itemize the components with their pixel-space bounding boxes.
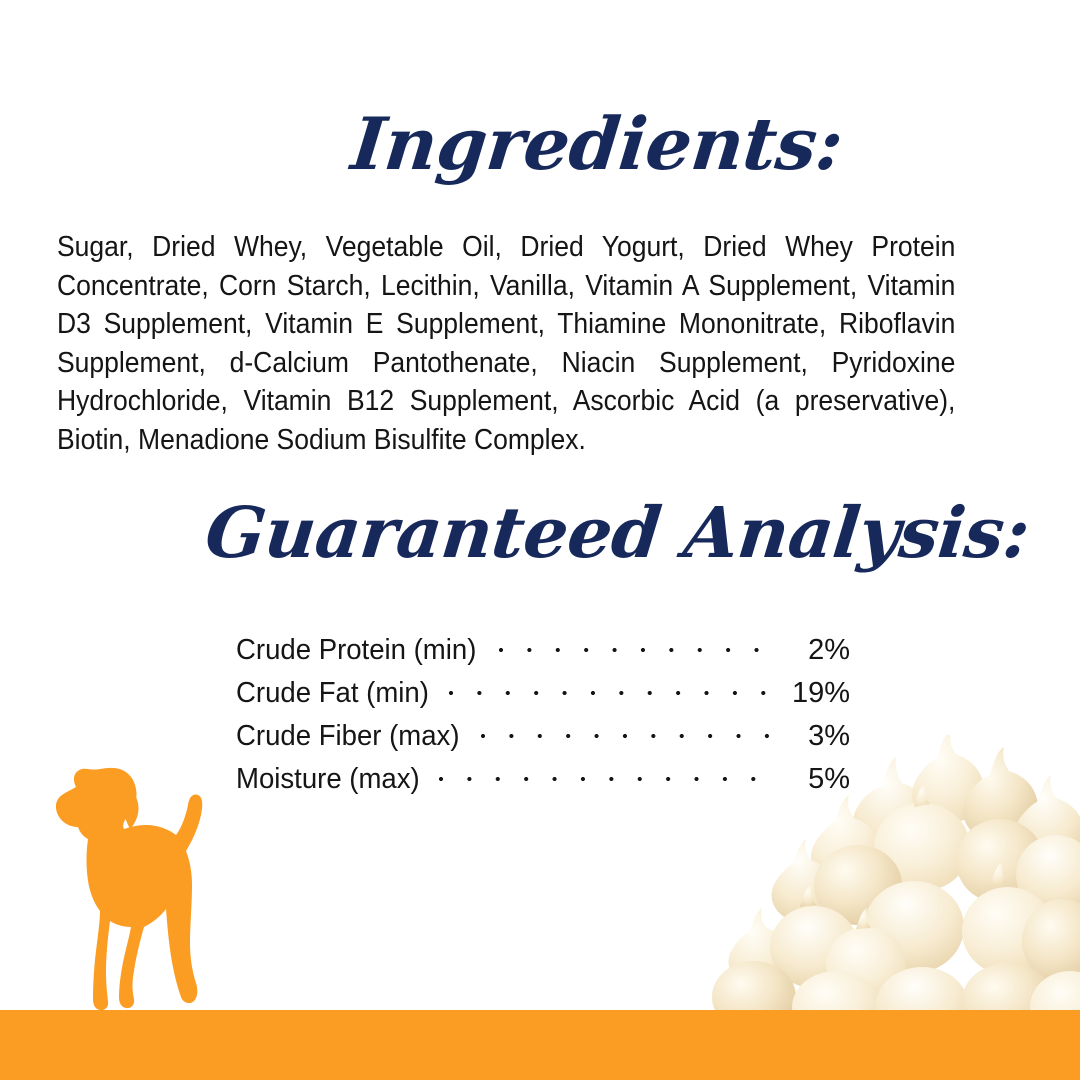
guaranteed-analysis-heading: Guaranteed Analysis:: [202, 494, 1033, 572]
analysis-row-label: Crude Fiber (max): [236, 720, 460, 753]
analysis-row: Crude Fat (min) 19%: [236, 673, 850, 716]
orange-footer-bar: [0, 1010, 1080, 1080]
analysis-row-label: Moisture (max): [236, 763, 420, 796]
dog-silhouette-icon: [40, 765, 240, 1015]
ingredients-body-text: Sugar, Dried Whey, Vegetable Oil, Dried …: [57, 228, 955, 459]
yogurt-chips-pile-image: [690, 735, 1080, 1025]
ingredients-heading: Ingredients:: [348, 104, 847, 184]
analysis-row: Crude Protein (min) 2%: [236, 630, 850, 673]
analysis-row-value: 2%: [782, 634, 850, 667]
dot-leader: [449, 673, 772, 702]
dot-leader: [499, 630, 772, 659]
analysis-row-label: Crude Protein (min): [236, 634, 476, 667]
analysis-row-value: 19%: [782, 677, 850, 710]
analysis-row-label: Crude Fat (min): [236, 677, 429, 710]
product-label-panel: Ingredients: Sugar, Dried Whey, Vegetabl…: [0, 0, 1080, 1080]
